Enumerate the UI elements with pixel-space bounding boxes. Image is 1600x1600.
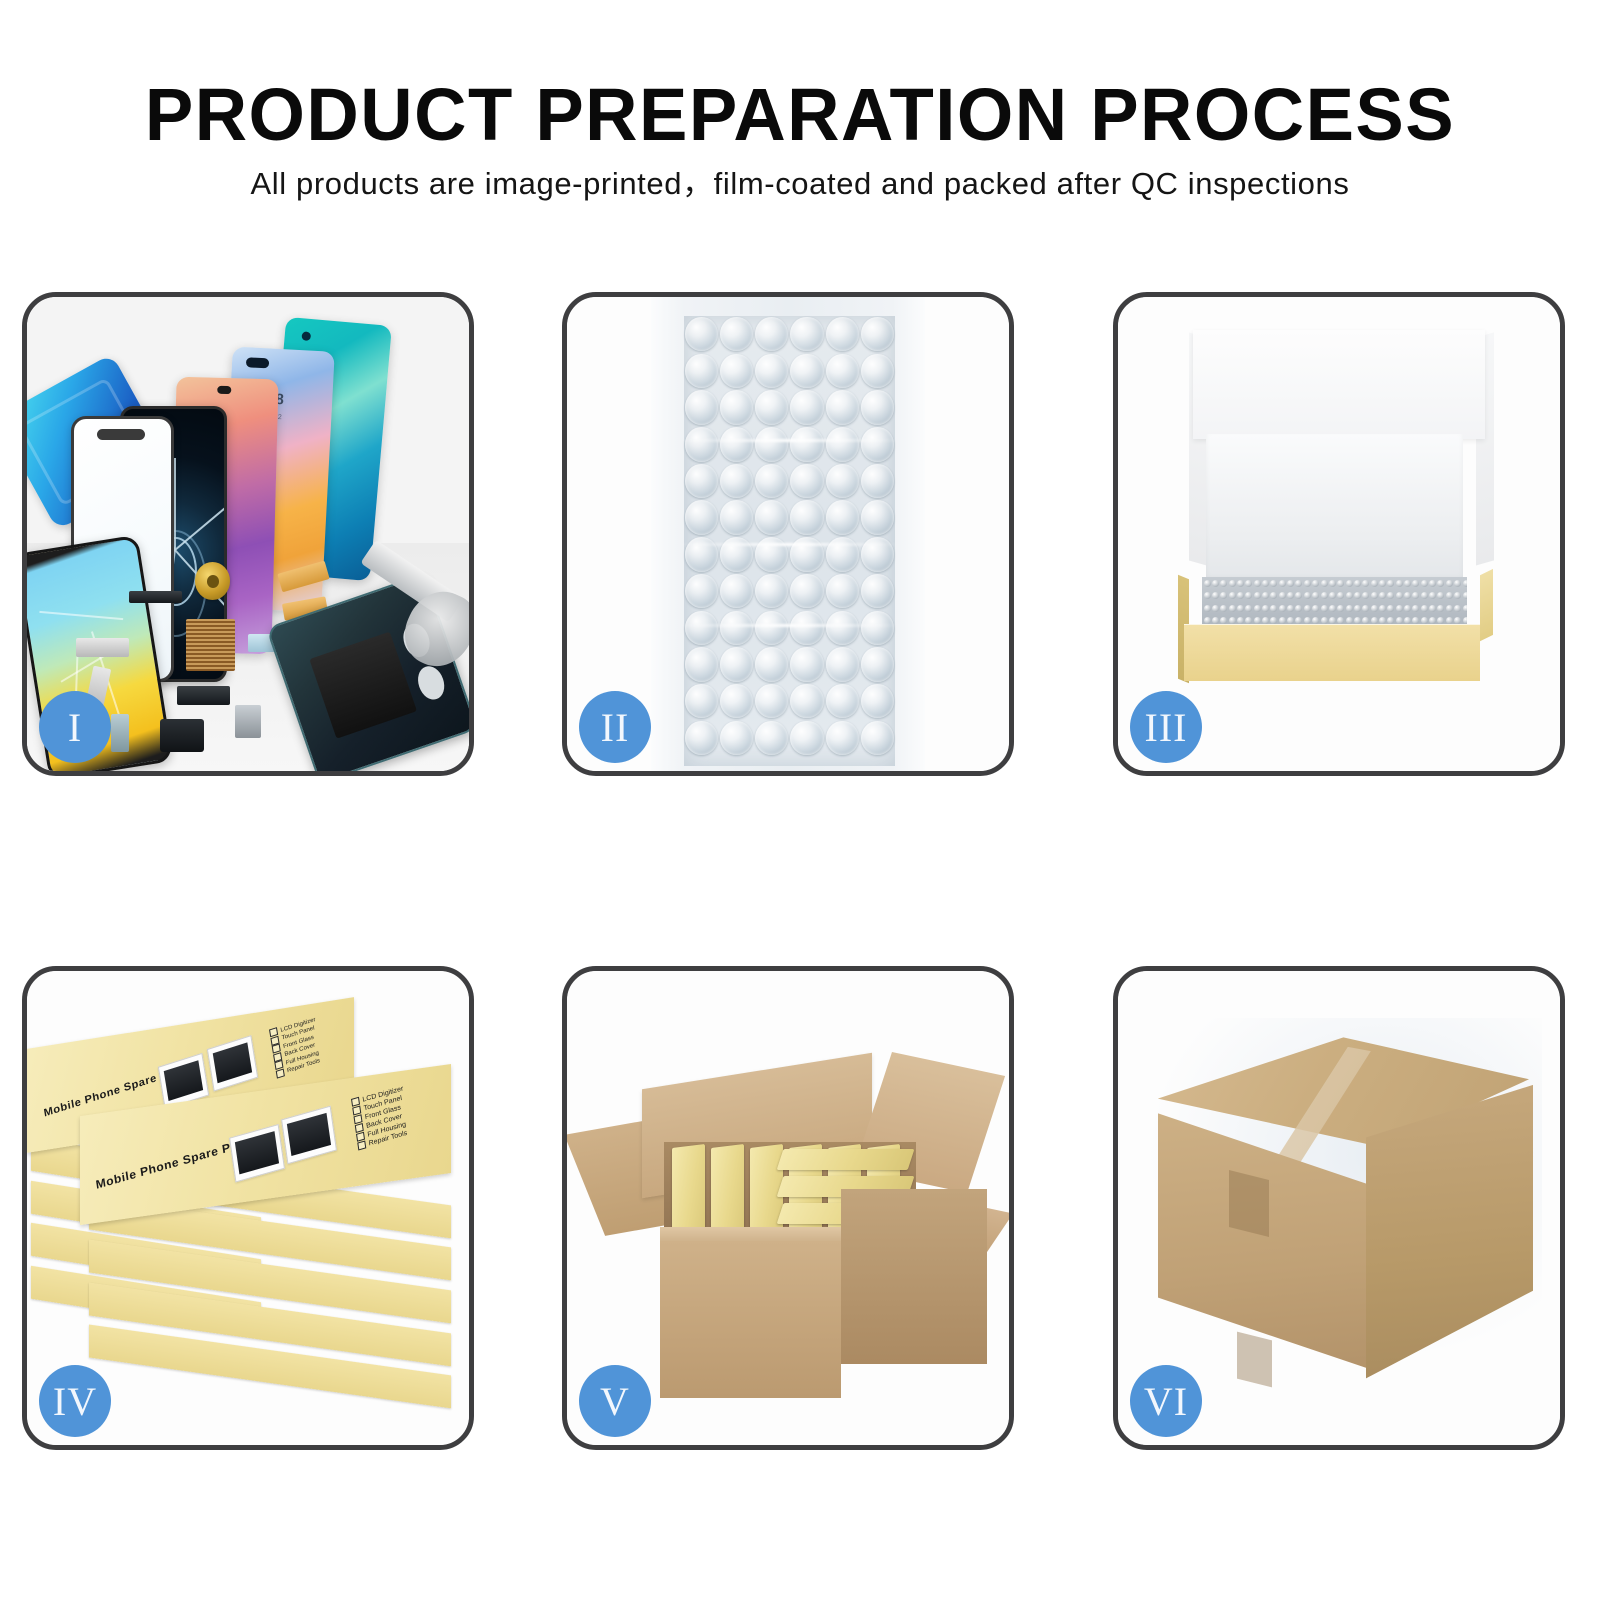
bubble [685, 611, 718, 645]
bubble [790, 390, 823, 424]
bubble [755, 574, 788, 608]
bubble [826, 647, 859, 681]
bubble [826, 611, 859, 645]
checkbox-icon [351, 1096, 360, 1106]
bubble [1362, 605, 1369, 612]
bubble [790, 317, 823, 351]
bubble [1204, 605, 1211, 612]
bubble [685, 464, 718, 498]
retail-box-checklist-1: LCD DigitizerTouch PanelFront GlassBack … [269, 1015, 323, 1079]
bubble [1245, 580, 1252, 587]
panel-step-5[interactable]: V [562, 966, 1014, 1450]
bubble [826, 574, 859, 608]
bubble [826, 317, 859, 351]
bubble [1362, 592, 1369, 599]
bubble [1279, 592, 1286, 599]
bubble [1287, 605, 1294, 612]
bubble [720, 721, 753, 755]
bubble [1220, 605, 1227, 612]
bubble [1212, 592, 1219, 599]
bubble [1454, 605, 1461, 612]
bubble [1371, 605, 1378, 612]
bubble [1237, 580, 1244, 587]
bubble [1220, 580, 1227, 587]
carton-right-face [841, 1189, 987, 1364]
camera-lens [414, 663, 448, 703]
plastic-sheen [673, 543, 903, 546]
crack-line [174, 490, 227, 551]
plastic-sheen [673, 624, 903, 627]
bubble [1287, 592, 1294, 599]
bubble [1312, 605, 1319, 612]
bubble [720, 317, 753, 351]
bubble [685, 574, 718, 608]
bubble [720, 684, 753, 718]
bubble [1312, 592, 1319, 599]
checkbox-icon [354, 1114, 363, 1124]
bubble [720, 574, 753, 608]
bubble [1463, 605, 1468, 612]
bubble [1279, 580, 1286, 587]
bubble-row [684, 463, 895, 499]
bubble [1295, 605, 1302, 612]
bubble [790, 427, 823, 461]
retail-box-in-carton [777, 1149, 915, 1170]
bubble [1421, 580, 1428, 587]
bubble [861, 500, 894, 534]
bubble [1279, 605, 1286, 612]
ic-chip-array [186, 619, 235, 671]
bubble [826, 390, 859, 424]
bubble [1337, 580, 1344, 587]
bubble [1379, 605, 1386, 612]
connector-part [76, 638, 129, 657]
bubble [720, 647, 753, 681]
bubble-row [684, 499, 895, 535]
step-badge-2: II [579, 691, 651, 763]
bubble [720, 427, 753, 461]
bubble [685, 537, 718, 571]
bubble-row [684, 683, 895, 719]
bubble [826, 427, 859, 461]
bubble [826, 721, 859, 755]
panel-step-4[interactable]: Mobile Phone Spare Parts LCD DigitizerTo… [22, 966, 474, 1450]
bubble [1237, 592, 1244, 599]
bubble-field [684, 316, 895, 766]
bubble [1354, 605, 1361, 612]
bubble [1446, 592, 1453, 599]
bubble-row [684, 389, 895, 425]
bubble [1262, 592, 1269, 599]
bubble [755, 427, 788, 461]
bubble [1396, 580, 1403, 587]
bubble [1295, 580, 1302, 587]
bubble [1429, 592, 1436, 599]
bubble [861, 390, 894, 424]
bubble [1321, 605, 1328, 612]
bubble [1346, 605, 1353, 612]
bubble [1229, 580, 1236, 587]
bubble-row [684, 316, 895, 352]
panel-step-6[interactable]: VI [1113, 966, 1565, 1450]
bubble [1379, 592, 1386, 599]
bubble-wrapped-product [1202, 577, 1467, 629]
bubble [1245, 592, 1252, 599]
bubble [1437, 592, 1444, 599]
bubble [790, 500, 823, 534]
bubble [755, 464, 788, 498]
checkbox-icon [357, 1140, 366, 1150]
bubble [861, 611, 894, 645]
bubble [1463, 580, 1468, 587]
retail-box-screen-thumb [229, 1124, 285, 1182]
checkbox-icon [276, 1068, 285, 1078]
bubble [1204, 592, 1211, 599]
bubble [1379, 580, 1386, 587]
bubble [720, 464, 753, 498]
bubble [1304, 605, 1311, 612]
bubble [1270, 592, 1277, 599]
speaker-part [129, 591, 182, 603]
bubble [861, 317, 894, 351]
bubble [685, 427, 718, 461]
bubble [861, 647, 894, 681]
bubble [1387, 592, 1394, 599]
bubble [1387, 580, 1394, 587]
bubble [755, 647, 788, 681]
bubble-row [684, 573, 895, 609]
bubble [1287, 580, 1294, 587]
bubble [755, 721, 788, 755]
bubble [1212, 605, 1219, 612]
bubble [861, 464, 894, 498]
bubble [1304, 580, 1311, 587]
bubble [1229, 605, 1236, 612]
bubble [1412, 592, 1419, 599]
box-side-right [1480, 569, 1493, 642]
bubble [1346, 580, 1353, 587]
bubble [685, 354, 718, 388]
bubble [755, 354, 788, 388]
bubble [1254, 605, 1261, 612]
bubble [826, 464, 859, 498]
bubble [755, 500, 788, 534]
step-badge-3: III [1130, 691, 1202, 763]
bubble [720, 500, 753, 534]
bubble [861, 427, 894, 461]
bubble [685, 721, 718, 755]
retail-box-screen-thumb [281, 1105, 337, 1163]
box-front-face [1184, 624, 1480, 681]
bubble [685, 500, 718, 534]
bubble [755, 317, 788, 351]
bubble [861, 354, 894, 388]
bubble [1237, 605, 1244, 612]
bubble [826, 500, 859, 534]
bubble [1421, 592, 1428, 599]
carton-front-face [660, 1241, 841, 1397]
teardrop-notch [217, 386, 231, 394]
bubble [1396, 592, 1403, 599]
bubble [1454, 592, 1461, 599]
bubble [790, 647, 823, 681]
bubble [1354, 592, 1361, 599]
bubble [861, 684, 894, 718]
bubble [1454, 580, 1461, 587]
bubble [1262, 580, 1269, 587]
checkbox-icon [352, 1105, 361, 1115]
bubble-row [684, 720, 895, 756]
bubble [1295, 592, 1302, 599]
bubble [1329, 592, 1336, 599]
bubble [1446, 605, 1453, 612]
bubble [685, 647, 718, 681]
crack-shard [40, 611, 123, 620]
bubble [755, 390, 788, 424]
bubble-row [684, 646, 895, 682]
bubble [1404, 580, 1411, 587]
bubble [1421, 605, 1428, 612]
vibration-motor-part [235, 705, 262, 738]
bubble [685, 390, 718, 424]
retail-box-checklist-2: LCD DigitizerTouch PanelFront GlassBack … [351, 1084, 410, 1151]
bubble-row [684, 353, 895, 389]
bubble [1387, 605, 1394, 612]
bubble [1220, 592, 1227, 599]
bubble [790, 684, 823, 718]
box-lid-top [1193, 330, 1485, 439]
bubble [1312, 580, 1319, 587]
bubble-row [684, 536, 895, 572]
bubble [720, 390, 753, 424]
bubble [790, 574, 823, 608]
bubble [826, 354, 859, 388]
bubble [1354, 580, 1361, 587]
battery-part [310, 632, 418, 739]
panel-step-3[interactable]: III [1113, 292, 1565, 776]
bubble [1412, 580, 1419, 587]
bubble [1304, 592, 1311, 599]
bubble [720, 354, 753, 388]
bubble-wrap-sleeve [651, 297, 925, 771]
bubble [1254, 580, 1261, 587]
bubble [1245, 605, 1252, 612]
bubble [1270, 605, 1277, 612]
process-panel-grid: 08 08 Tue Oct 12 [0, 0, 1600, 1600]
bubble [1262, 605, 1269, 612]
bubble [1321, 580, 1328, 587]
carton-seam-tab [1237, 1332, 1272, 1388]
bubble [1254, 592, 1261, 599]
bubble [1337, 605, 1344, 612]
punch-hole-notch [246, 358, 269, 369]
bubble [1437, 580, 1444, 587]
checkbox-icon [355, 1122, 364, 1132]
step-badge-6: VI [1130, 1365, 1202, 1437]
bubble [720, 537, 753, 571]
bubble [685, 317, 718, 351]
bubble [1463, 592, 1468, 599]
checkbox-icon [356, 1131, 365, 1141]
bubble [1429, 580, 1436, 587]
bubble [1337, 592, 1344, 599]
glass-notch-cutout [97, 429, 146, 440]
foam-insert-sheet [1206, 434, 1462, 581]
bubble [755, 684, 788, 718]
bubble [1229, 592, 1236, 599]
bubble [1329, 605, 1336, 612]
ic-module-part [177, 686, 230, 705]
bubble [1346, 592, 1353, 599]
bubble [1204, 580, 1211, 587]
bubble [861, 537, 894, 571]
bubble [720, 611, 753, 645]
bubble [1321, 592, 1328, 599]
bubble [861, 721, 894, 755]
bubble [1446, 580, 1453, 587]
step-badge-5: V [579, 1365, 651, 1437]
bubble [826, 537, 859, 571]
bubble [790, 537, 823, 571]
step-badge-4: IV [39, 1365, 111, 1437]
bubble [755, 611, 788, 645]
bubble [826, 684, 859, 718]
bubble-row [684, 426, 895, 462]
bubble [1412, 605, 1419, 612]
camera-module-part [160, 719, 204, 752]
panel-step-1[interactable]: 08 08 Tue Oct 12 [22, 292, 474, 776]
bubble-row [684, 610, 895, 646]
bubble [1371, 580, 1378, 587]
bubble [790, 354, 823, 388]
bubble [685, 684, 718, 718]
bubble [861, 574, 894, 608]
sim-tray-part [111, 714, 129, 752]
bubble [1404, 592, 1411, 599]
bubble [755, 537, 788, 571]
step-badge-1: I [39, 691, 111, 763]
bubble [1404, 605, 1411, 612]
bubble [1429, 605, 1436, 612]
bubble [790, 464, 823, 498]
bubble [1270, 580, 1277, 587]
retail-box-screen-thumb [207, 1035, 258, 1091]
bubble [790, 721, 823, 755]
plastic-sheen [673, 439, 903, 442]
bubble [1437, 605, 1444, 612]
bubble [1371, 592, 1378, 599]
bubble [790, 611, 823, 645]
bubble [1396, 605, 1403, 612]
bubble [1329, 580, 1336, 587]
panel-step-2[interactable]: II [562, 292, 1014, 776]
carton-seam-tab [1229, 1170, 1269, 1237]
bubble [1212, 580, 1219, 587]
bubble [1362, 580, 1369, 587]
